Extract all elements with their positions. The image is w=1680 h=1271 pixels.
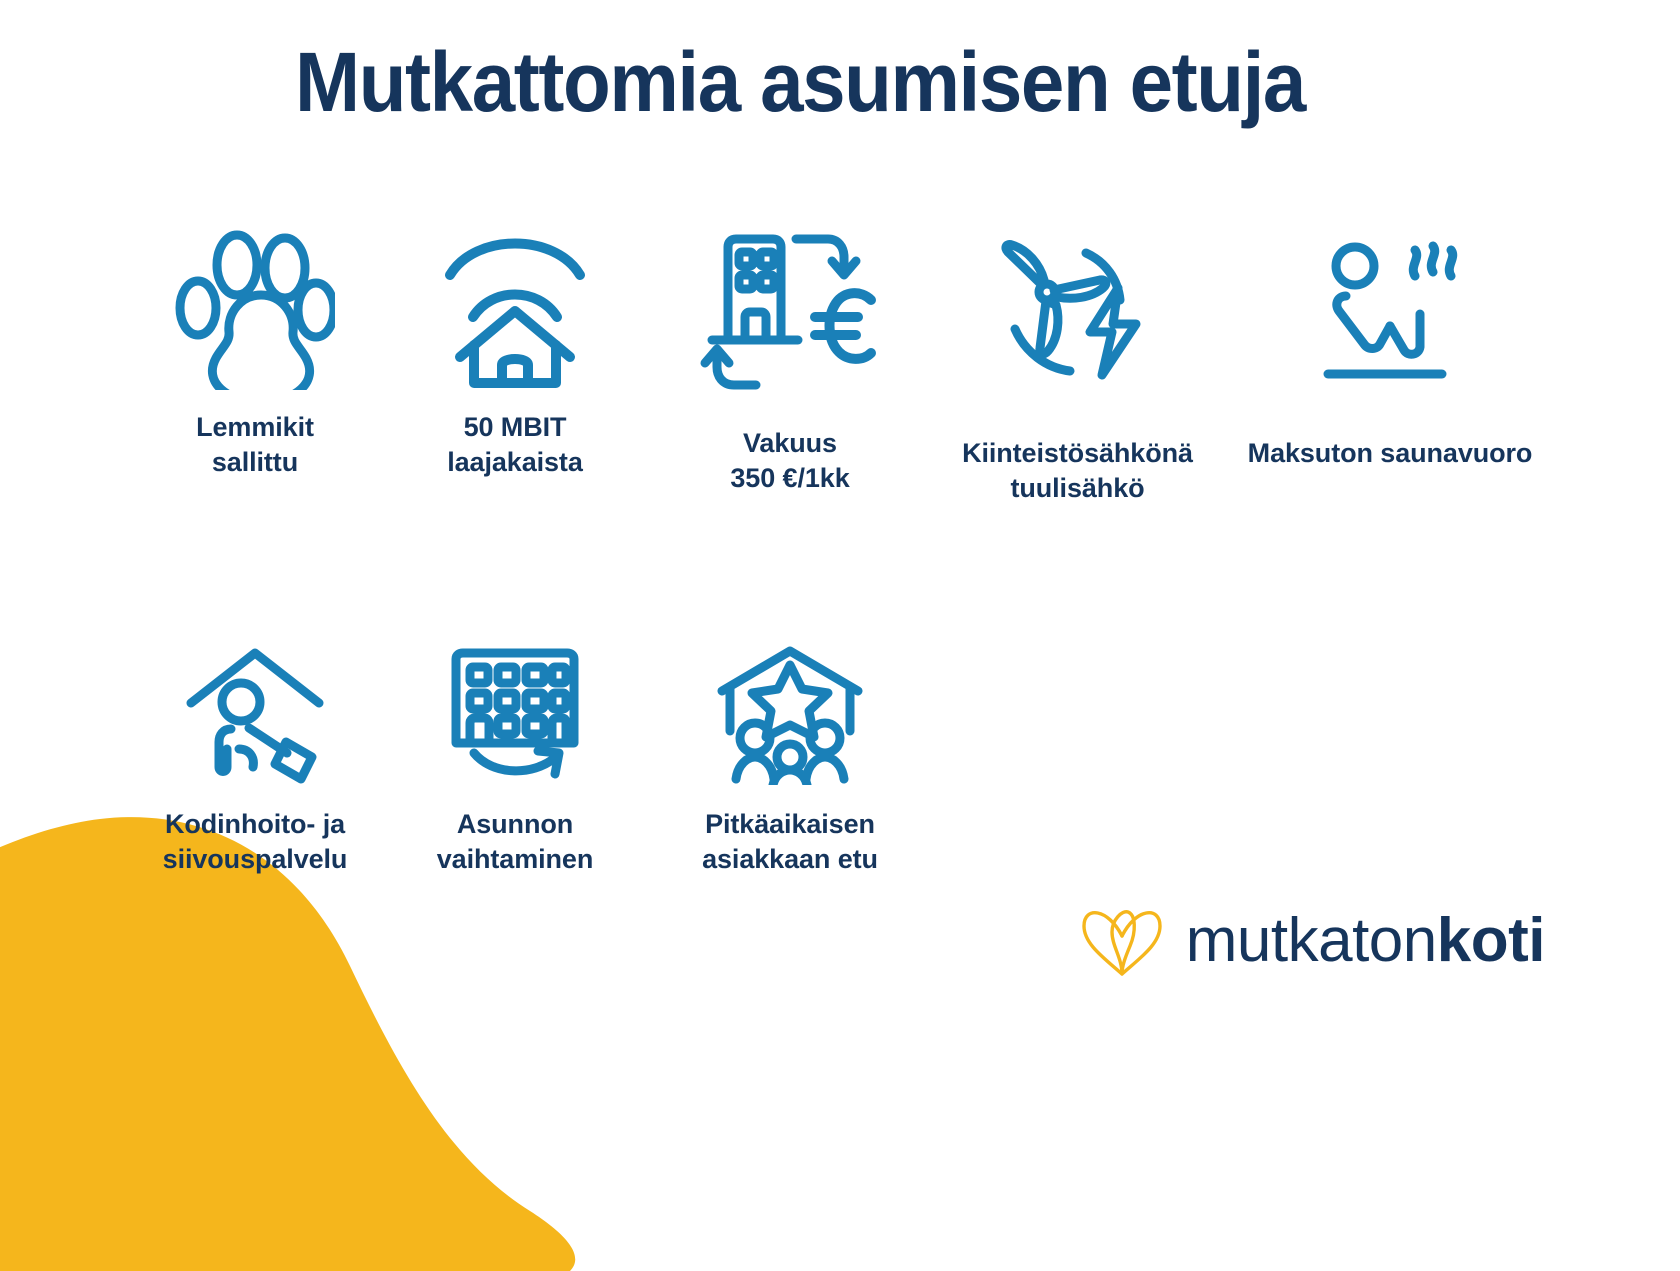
apartment-swap-icon <box>440 625 590 785</box>
brand-name: mutkatonkoti <box>1186 910 1545 972</box>
sauna-person-steam-icon <box>1320 205 1460 390</box>
benefits-row-1: Lemmikit sallittu 50 MBIT laajakaista <box>120 205 1580 505</box>
paw-print-icon <box>175 205 335 390</box>
benefit-label: Pitkäaikaisen asiakkaan etu <box>702 807 878 876</box>
brand-logo[interactable]: mutkatonkoti <box>1078 882 1545 999</box>
benefits-row-2: Kodinhoito- ja siivouspalvelu <box>120 625 1580 876</box>
building-euro-exchange-icon <box>698 205 883 390</box>
benefit-label: 50 MBIT laajakaista <box>447 410 583 479</box>
benefit-broadband: 50 MBIT laajakaista <box>390 205 640 479</box>
benefit-apartment-swap: Asunnon vaihtaminen <box>390 625 640 876</box>
family-star-house-icon <box>708 625 873 785</box>
wind-turbine-lightning-icon <box>990 205 1165 390</box>
benefits-grid: Lemmikit sallittu 50 MBIT laajakaista <box>120 205 1580 876</box>
benefit-label: Vakuus 350 €/1kk <box>730 426 849 495</box>
benefit-pets-allowed: Lemmikit sallittu <box>130 205 380 479</box>
benefit-label: Lemmikit sallittu <box>196 410 314 479</box>
benefit-free-sauna: Maksuton saunavuoro <box>1225 205 1555 471</box>
benefit-label: Maksuton saunavuoro <box>1248 436 1533 471</box>
benefit-deposit: Vakuus 350 €/1kk <box>660 205 920 495</box>
benefit-wind-power: Kiinteistösähkönä tuulisähkö <box>940 205 1215 505</box>
heart-swirl-icon <box>1078 882 1164 999</box>
brand-name-bold: koti <box>1437 906 1545 975</box>
page-title: Mutkattomia asumisen etuja <box>56 40 1544 124</box>
benefit-loyalty: Pitkäaikaisen asiakkaan etu <box>660 625 920 876</box>
benefit-label: Kodinhoito- ja siivouspalvelu <box>163 807 348 876</box>
cleaning-person-roof-icon <box>183 625 328 785</box>
wifi-house-icon <box>440 205 590 390</box>
benefit-home-cleaning: Kodinhoito- ja siivouspalvelu <box>130 625 380 876</box>
benefit-label: Kiinteistösähkönä tuulisähkö <box>962 436 1193 505</box>
benefit-label: Asunnon vaihtaminen <box>437 807 593 876</box>
brand-name-light: mutkaton <box>1186 906 1437 975</box>
